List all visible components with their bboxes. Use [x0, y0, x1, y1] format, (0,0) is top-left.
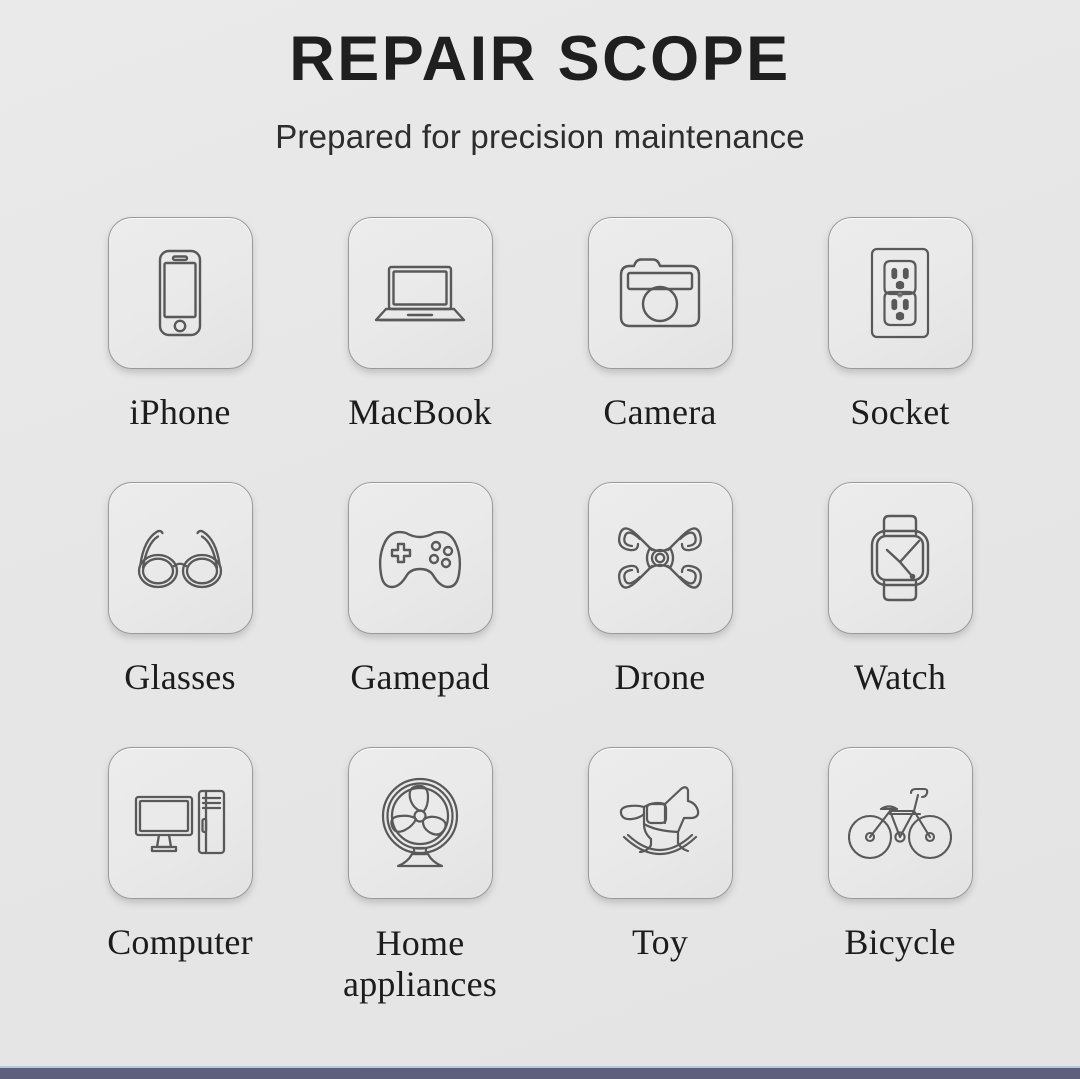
electric-fan-icon — [368, 771, 472, 875]
poster-header: REPAIR SCOPE Prepared for precision main… — [0, 0, 1080, 155]
icon-card[interactable] — [348, 217, 493, 369]
power-outlet-icon — [848, 241, 952, 345]
gamepad-icon — [368, 506, 472, 610]
laptop-icon — [368, 241, 472, 345]
rocking-horse-icon — [608, 771, 712, 875]
grid-item-bicycle[interactable]: Bicycle — [780, 747, 1020, 1012]
item-label: Socket — [850, 393, 949, 432]
icon-card[interactable] — [828, 482, 973, 634]
smartphone-icon — [128, 241, 232, 345]
item-label: Camera — [603, 393, 716, 432]
item-label: MacBook — [348, 393, 491, 432]
grid-item-socket[interactable]: Socket — [780, 217, 1020, 482]
page-subtitle: Prepared for precision maintenance — [0, 119, 1080, 155]
grid-item-gamepad[interactable]: Gamepad — [300, 482, 540, 747]
icon-card[interactable] — [108, 747, 253, 899]
eyeglasses-icon — [128, 506, 232, 610]
grid-item-glasses[interactable]: Glasses — [60, 482, 300, 747]
item-label: Computer — [107, 923, 253, 962]
item-label: iPhone — [129, 393, 230, 432]
repair-scope-poster: REPAIR SCOPE Prepared for precision main… — [0, 0, 1080, 1079]
bicycle-icon — [848, 771, 952, 875]
item-label: Gamepad — [350, 658, 489, 697]
grid-item-macbook[interactable]: MacBook — [300, 217, 540, 482]
icon-card[interactable] — [108, 217, 253, 369]
grid-item-iphone[interactable]: iPhone — [60, 217, 300, 482]
desktop-computer-icon — [128, 771, 232, 875]
icon-card[interactable] — [108, 482, 253, 634]
icon-card[interactable] — [588, 482, 733, 634]
camera-icon — [608, 241, 712, 345]
grid-item-toy[interactable]: Toy — [540, 747, 780, 1012]
item-label: Drone — [615, 658, 706, 697]
grid-item-drone[interactable]: Drone — [540, 482, 780, 747]
icon-card[interactable] — [348, 482, 493, 634]
grid-item-camera[interactable]: Camera — [540, 217, 780, 482]
icon-card[interactable] — [828, 747, 973, 899]
grid-item-watch[interactable]: Watch — [780, 482, 1020, 747]
drone-icon — [608, 506, 712, 610]
item-label: Bicycle — [844, 923, 955, 962]
icon-card[interactable] — [828, 217, 973, 369]
icon-card[interactable] — [588, 217, 733, 369]
icon-card[interactable] — [588, 747, 733, 899]
smartwatch-icon — [848, 506, 952, 610]
item-label: Glasses — [124, 658, 235, 697]
icon-card[interactable] — [348, 747, 493, 899]
bottom-band — [0, 1068, 1080, 1079]
item-label: Home appliances — [320, 923, 520, 1004]
grid-item-computer[interactable]: Computer — [60, 747, 300, 1012]
item-label: Watch — [854, 658, 946, 697]
grid-item-home-appliances[interactable]: Home appliances — [300, 747, 540, 1012]
item-label: Toy — [632, 923, 688, 962]
page-title: REPAIR SCOPE — [0, 26, 1080, 92]
repair-scope-grid: iPhone MacBook — [60, 217, 1020, 1012]
